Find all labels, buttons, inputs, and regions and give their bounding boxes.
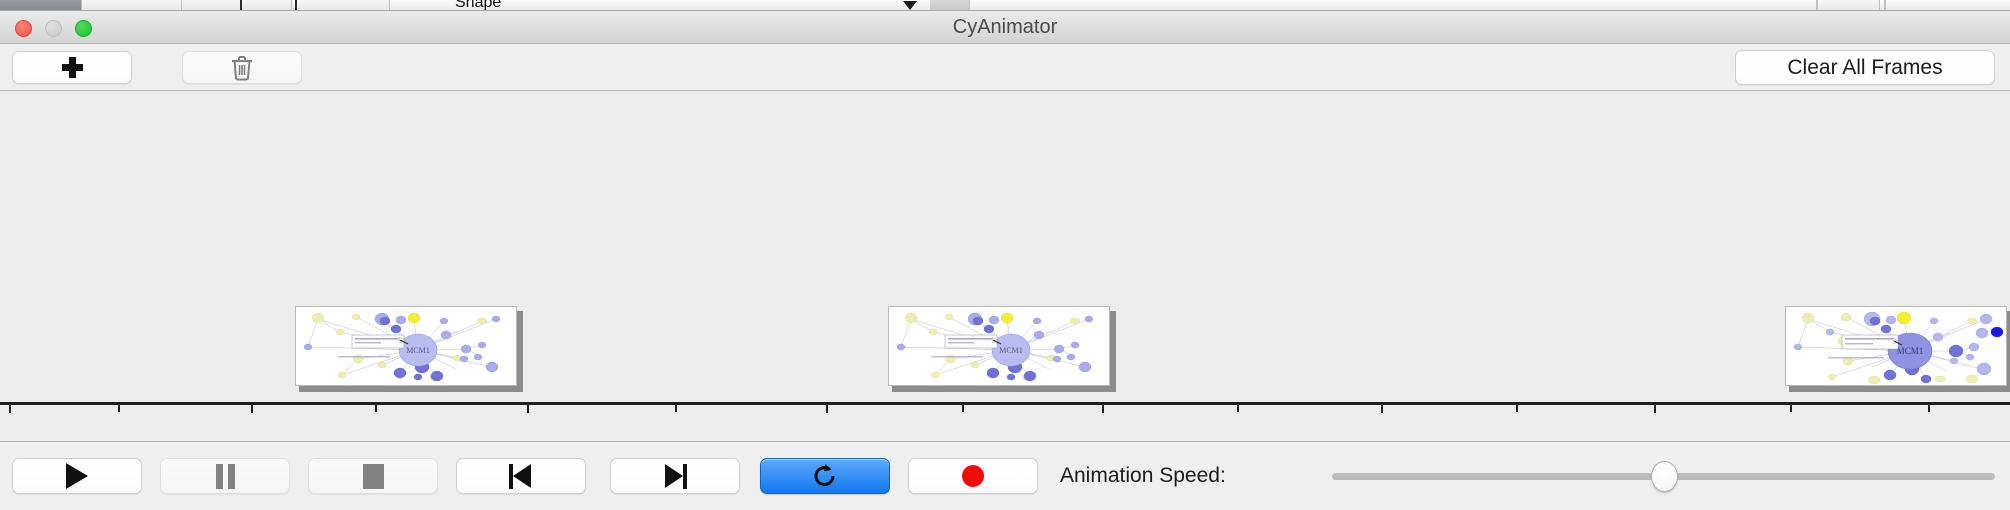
network-graph-icon: MCM1 <box>296 307 517 386</box>
timeline-tick-minor <box>675 402 677 412</box>
background-marker <box>295 0 297 11</box>
skip-forward-button[interactable] <box>610 458 740 494</box>
background-marker <box>240 0 242 11</box>
clear-all-frames-label: Clear All Frames <box>1787 56 1942 80</box>
trash-icon <box>230 55 254 81</box>
slider-thumb[interactable] <box>1651 461 1678 492</box>
pause-button[interactable] <box>160 458 290 494</box>
background-tab <box>930 0 970 11</box>
background-tab-selected <box>0 0 82 11</box>
stop-button[interactable] <box>308 458 438 494</box>
background-tab <box>182 0 292 11</box>
background-window: Shape <box>0 0 2010 11</box>
clear-all-frames-button[interactable]: Clear All Frames <box>1735 50 1995 85</box>
skip-forward-icon <box>663 464 687 489</box>
titlebar: CyAnimator <box>0 11 2010 44</box>
timeline-tick-major <box>1102 402 1104 413</box>
timeline-tick-minor <box>1516 402 1518 412</box>
delete-frame-button[interactable] <box>182 51 302 84</box>
pause-icon <box>216 464 235 489</box>
timeline-tick-major <box>1654 402 1656 413</box>
window-title: CyAnimator <box>0 11 2010 44</box>
timeline-panel[interactable]: MCM1 <box>0 91 2010 413</box>
skip-back-button[interactable] <box>456 458 586 494</box>
record-icon <box>962 465 984 487</box>
playback-control-bar: Animation Speed: <box>0 441 2010 510</box>
plus-icon <box>62 57 83 78</box>
timeline-tick-minor <box>1928 402 1930 412</box>
background-marker <box>1816 0 1818 11</box>
thumbnail-network-graph: MCM1 <box>295 306 517 386</box>
thumbnail-network-graph: MCM1 <box>888 306 1110 386</box>
background-window-label: Shape <box>455 0 501 10</box>
toolbar: Clear All Frames <box>0 44 2010 91</box>
network-graph-icon: MCM1 <box>1786 307 2007 386</box>
timeline-axis <box>0 402 2010 405</box>
loop-icon <box>811 462 839 490</box>
svg-text:MCM1: MCM1 <box>1897 346 1924 356</box>
timeline-tick-major <box>9 402 11 413</box>
record-button[interactable] <box>908 458 1038 494</box>
timeline-tick-major <box>826 402 828 413</box>
animation-speed-label: Animation Speed: <box>1060 458 1226 494</box>
timeline-tick-minor <box>962 402 964 412</box>
background-tab <box>1820 0 1880 11</box>
timeline-tick-major <box>527 402 529 413</box>
timeline-tick-minor <box>375 402 377 412</box>
animation-speed-slider[interactable] <box>1332 458 1995 494</box>
timeline-tick-minor <box>1790 402 1792 412</box>
background-tab <box>82 0 182 11</box>
timeline-frame-thumbnail[interactable]: MCM1 <box>1785 306 2010 392</box>
cyanimator-window: Shape CyAnimator Clear All Frames <box>0 0 2010 510</box>
loop-button[interactable] <box>760 458 890 494</box>
timeline-tick-major <box>251 402 253 413</box>
play-button[interactable] <box>12 458 142 494</box>
svg-text:MCM1: MCM1 <box>999 346 1023 355</box>
timeline-frame-thumbnail[interactable]: MCM1 <box>295 306 523 392</box>
network-graph-icon: MCM1 <box>889 307 1110 386</box>
timeline-tick-minor <box>118 402 120 412</box>
thumbnail-network-graph: MCM1 <box>1785 306 2007 386</box>
skip-back-icon <box>509 464 533 489</box>
stop-icon <box>363 464 384 489</box>
background-tab <box>300 0 390 11</box>
add-frame-button[interactable] <box>12 51 132 84</box>
play-icon <box>66 463 88 489</box>
svg-text:MCM1: MCM1 <box>406 346 430 355</box>
timeline-frame-thumbnail[interactable]: MCM1 <box>888 306 1116 392</box>
timeline-tick-minor <box>1237 402 1239 412</box>
timeline-tick-major <box>1381 402 1383 413</box>
background-marker <box>1884 0 1886 11</box>
background-cursor-arrow-icon <box>903 1 917 10</box>
